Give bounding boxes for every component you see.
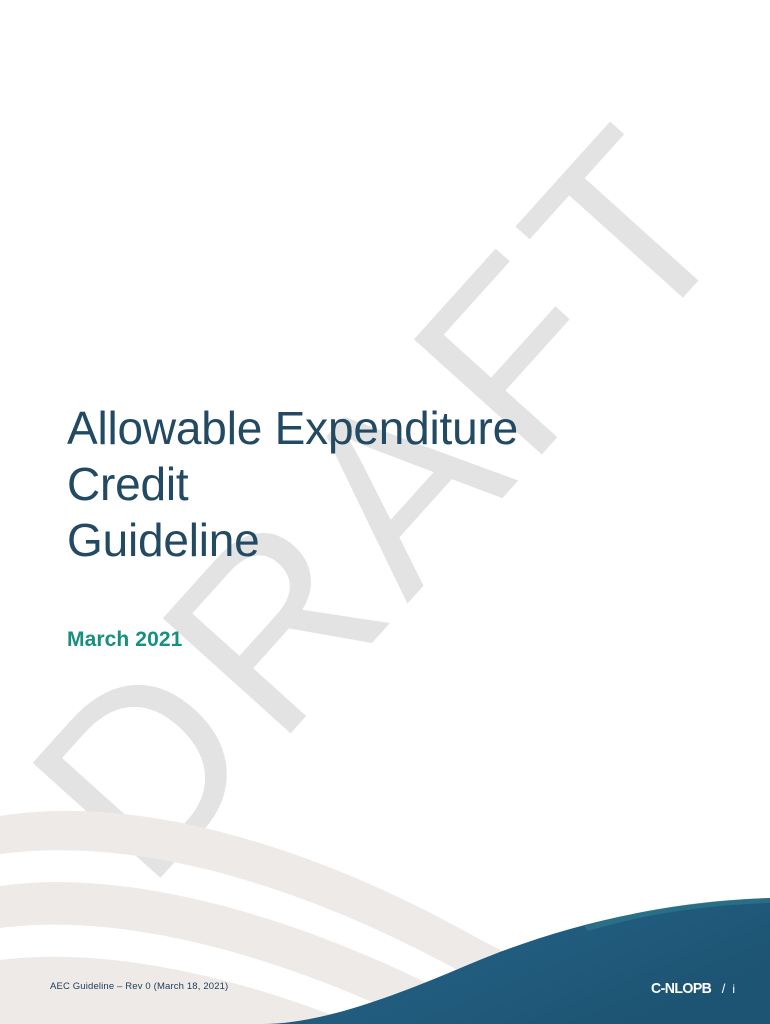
publication-date: March 2021 [67, 628, 182, 652]
page-number: i [732, 982, 735, 996]
page-title: Allowable Expenditure Credit Guideline [67, 400, 627, 568]
document-cover-page: DRAFT Allowable Exp [0, 0, 770, 1024]
brand-separator: / [722, 981, 726, 996]
footer-revision-note: AEC Guideline – Rev 0 (March 18, 2021) [50, 981, 228, 992]
cnlopb-logo: C-NLOPB [651, 980, 711, 997]
page-title-line-2: Guideline [67, 512, 627, 568]
page-title-line-1: Allowable Expenditure Credit [67, 400, 627, 512]
brand-mark: C-NLOPB / i [651, 980, 735, 997]
title-block: Allowable Expenditure Credit Guideline [67, 400, 627, 568]
